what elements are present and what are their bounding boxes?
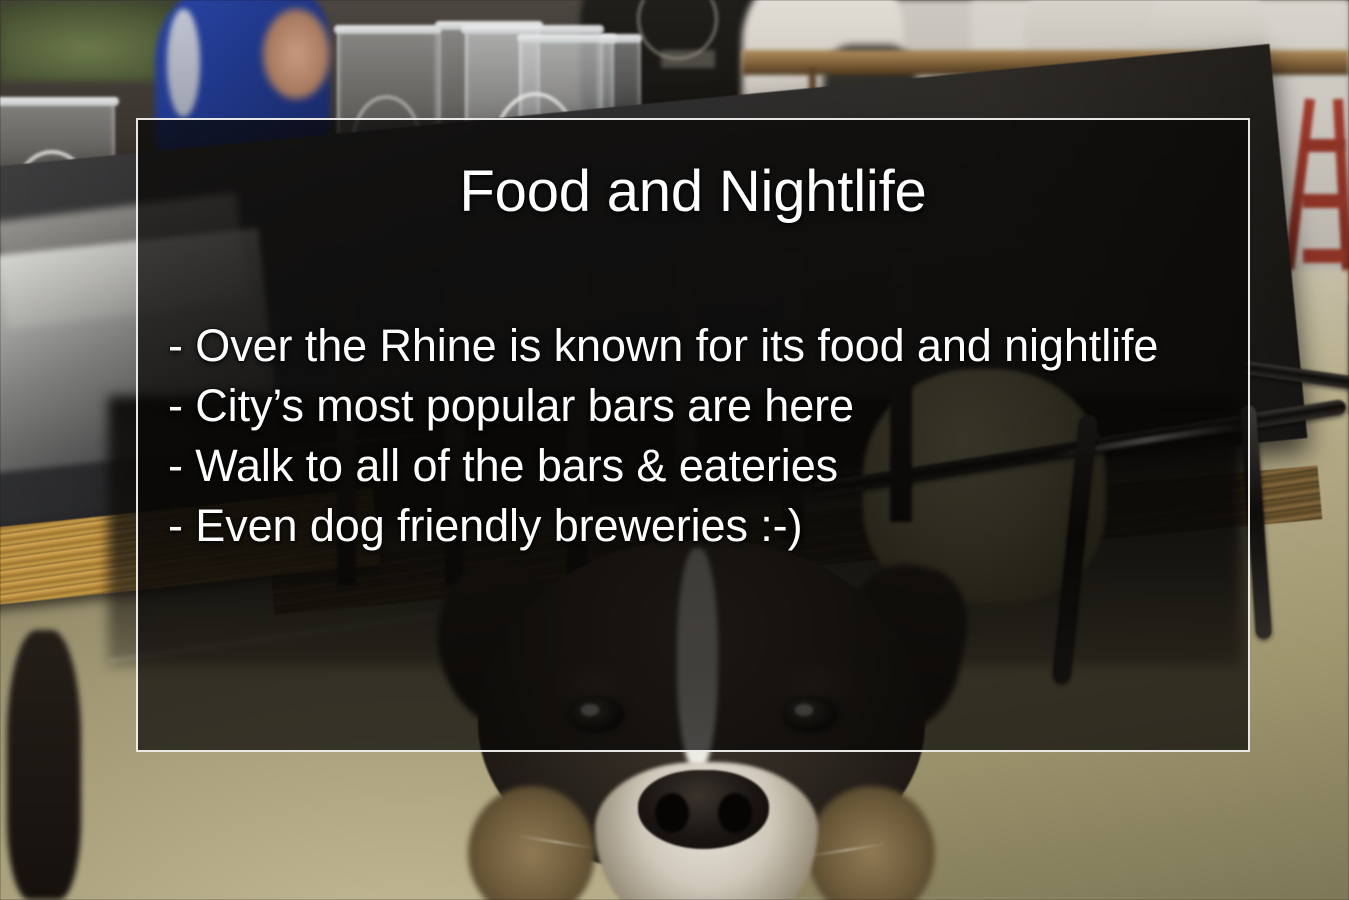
ladder-step [1303,194,1346,208]
person-arm [263,9,330,99]
dog-nose [638,770,769,849]
bullet-list: - Over the Rhine is known for its food a… [168,316,1228,556]
beer-glass-rim [0,97,119,106]
beer-glass-rim [334,25,441,34]
ladder-step [1303,139,1346,153]
page-title: Food and Nightlife [136,160,1250,224]
dog-leg [7,630,81,900]
presentation-slide: Food and Nightlife - Over the Rhine is k… [0,0,1349,900]
bullet-item-1: - Over the Rhine is known for its food a… [168,316,1228,376]
bullet-item-2: - City’s most popular bars are here [168,376,1228,436]
brewery-logo-text [661,50,715,68]
beer-glass-rim [599,34,642,43]
dog-nostril-right [718,793,752,833]
beer-glass-rim [461,25,604,34]
person-blue-jersey-sleeve [167,9,199,117]
ladder-step [1303,249,1346,263]
bullet-item-3: - Walk to all of the bars & eateries [168,436,1228,496]
dog-nostril-left [655,793,689,833]
bullet-item-4: - Even dog friendly breweries :-) [168,496,1228,556]
red-ladder [1302,99,1349,297]
